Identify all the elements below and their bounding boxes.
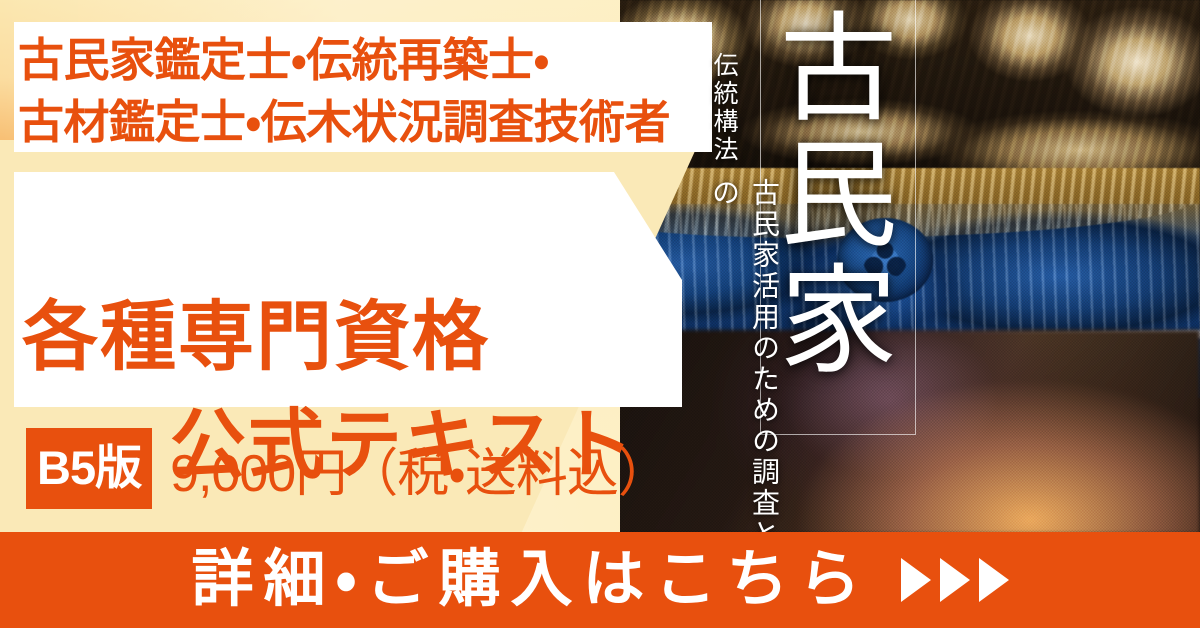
cta-button[interactable]: 詳細・ご購入はこちら (0, 532, 1200, 628)
triangle-right-icon (901, 558, 931, 602)
triangle-right-icon (979, 558, 1009, 602)
triangle-right-icon (940, 558, 970, 602)
cta-label: 詳細・ご購入はこちら (191, 549, 870, 611)
book-cover-title: 古民家 (775, 6, 899, 384)
format-badge: B5版 (26, 428, 152, 509)
book-cover-subtitle-line1: 伝統構法 (705, 52, 741, 164)
qualifications-heading: 古民家鑑定士・伝統再築士・ 古材鑑定士・伝木状況調査技術者 (18, 30, 670, 153)
cta-arrow-group (901, 558, 1009, 602)
main-heading-line1: 各種専門資格 (22, 295, 490, 380)
price-row: B5版 9,000円（税・送料込） (26, 428, 669, 509)
price-amount: 9,000円（税・送料込） (170, 431, 669, 506)
product-promo-banner: 古民家 伝統構法 古民家活用のための調査と再生の 古民家鑑定士・伝統再築士・ 古… (0, 0, 1200, 628)
